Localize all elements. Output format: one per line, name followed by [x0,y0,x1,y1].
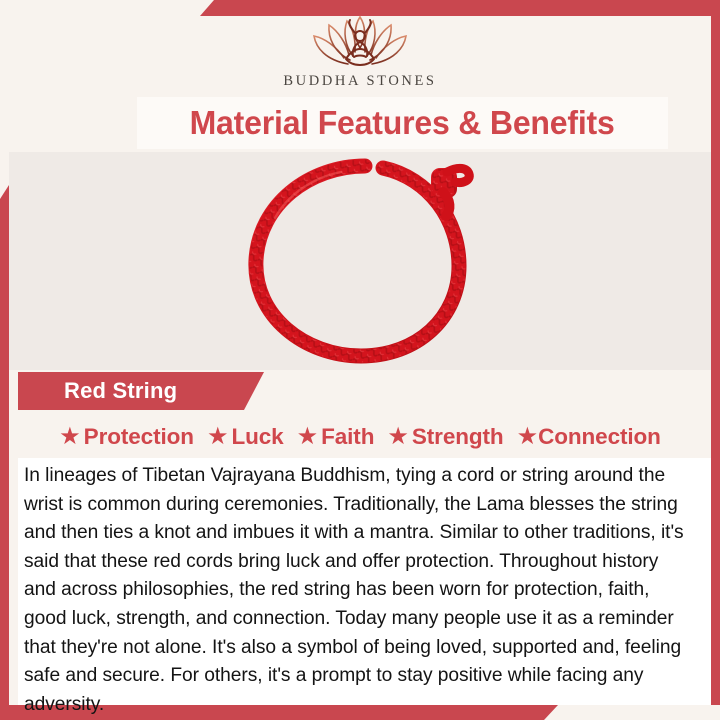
star-icon: ★ [297,425,319,449]
benefit-item-faith: ★ Faith [297,424,375,450]
benefit-label: Faith [321,424,374,450]
title-banner: Material Features & Benefits [137,97,668,149]
red-string-bracelet-illustration [215,152,505,370]
brand-logo: BUDDHA STONES [0,14,720,90]
benefit-item-protection: ★ Protection [59,424,194,450]
brand-name: BUDDHA STONES [283,73,436,90]
benefit-item-luck: ★ Luck [207,424,284,450]
star-icon: ★ [387,425,409,449]
lotus-meditation-icon [306,14,414,70]
product-image [9,152,711,370]
product-label: Red String [64,378,177,404]
benefit-label: Luck [231,424,283,450]
product-label-ribbon: Red String [18,372,264,410]
description-text: In lineages of Tibetan Vajrayana Buddhis… [24,462,692,719]
benefit-label: Protection [84,424,194,450]
benefit-label: Strength [412,424,504,450]
description-panel: In lineages of Tibetan Vajrayana Buddhis… [18,458,711,705]
star-icon: ★ [207,425,229,449]
benefit-item-strength: ★ Strength [387,424,503,450]
page-title: Material Features & Benefits [190,104,615,142]
material-features-infographic: BUDDHA STONES Material Features & Benefi… [0,0,720,720]
frame-band-left [0,185,9,705]
star-icon: ★ [59,425,81,449]
benefit-item-connection: ★ Connection [517,424,661,450]
benefits-list: ★ Protection ★ Luck ★ Faith ★ Strength ★… [9,419,711,455]
benefit-label: Connection [538,424,661,450]
frame-band-right [711,16,720,705]
star-icon: ★ [517,425,539,449]
